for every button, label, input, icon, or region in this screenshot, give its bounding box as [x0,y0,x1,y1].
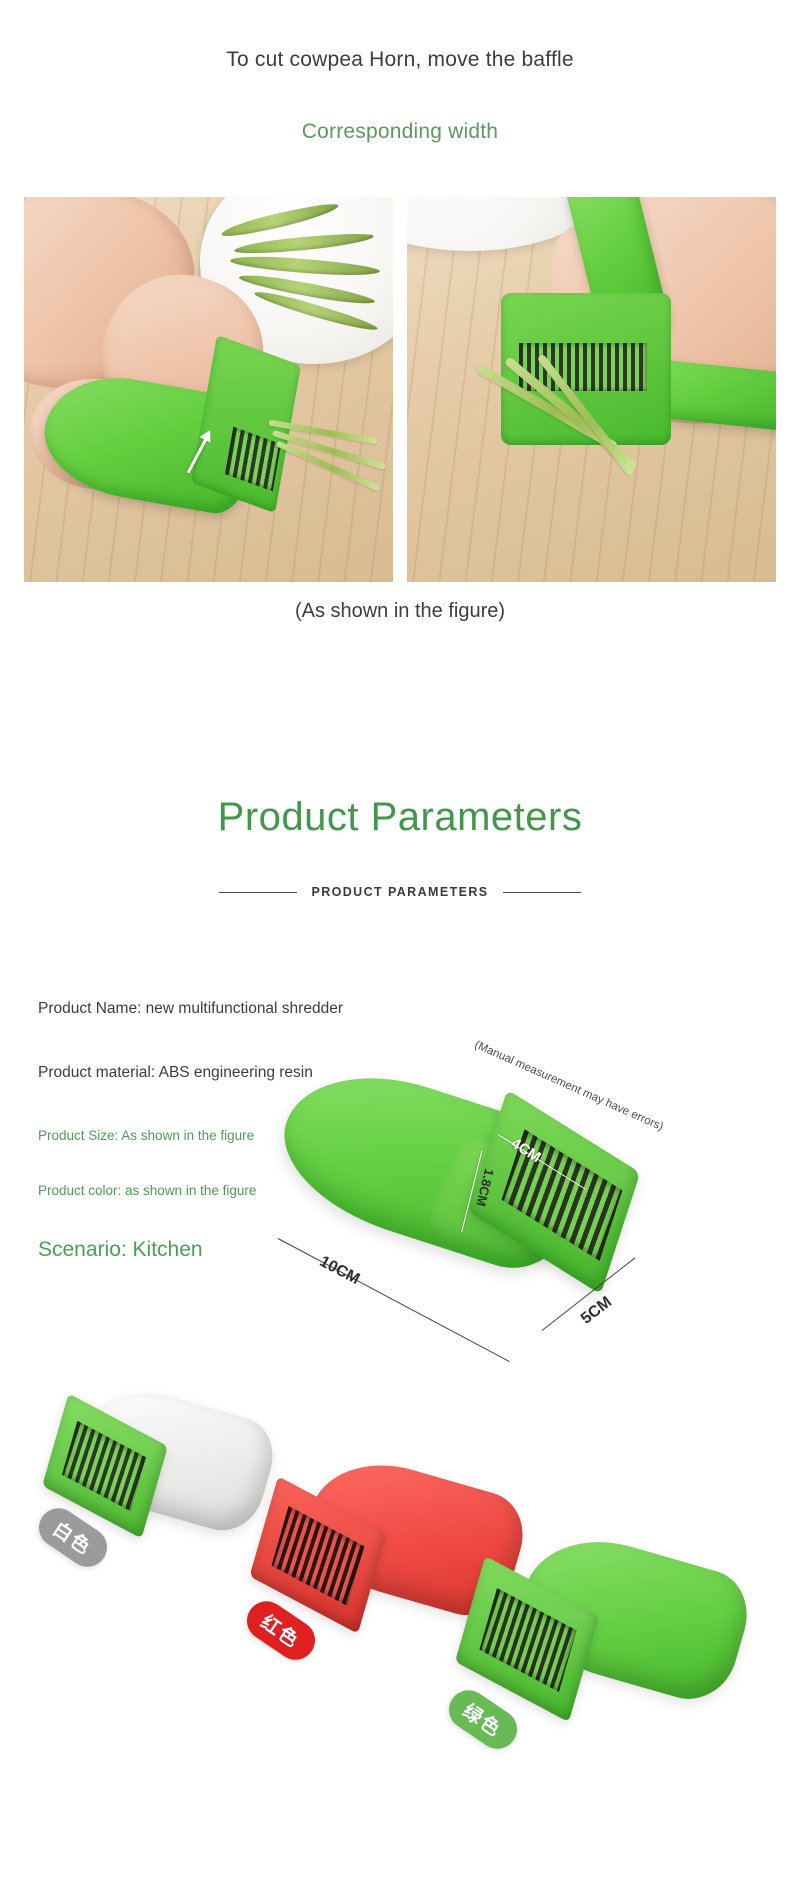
figure-caption: (As shown in the figure) [0,600,800,623]
variant-green[interactable]: 绿色 [430,1540,780,1810]
rule-left [219,892,297,893]
section-title: Product Parameters [0,795,800,840]
hero-product-diagram: (Manual measurement may have errors) 10C… [270,1030,800,1450]
spec-product-name: Product Name: new multifunctional shredd… [38,1000,468,1018]
dimension-label-length: 10CM [316,1253,362,1289]
photo-shredding-closeup [407,197,776,582]
page-subheadline: Corresponding width [0,120,800,144]
dimension-label-depth: 5CM [578,1294,616,1329]
instruction-photo-row [24,197,776,582]
photo-hands-moving-baffle [24,197,393,582]
color-variant-group: 白色 红色 绿色 [0,1390,800,1900]
section-subtitle: PRODUCT PARAMETERS [0,885,800,899]
section-subtitle-text: PRODUCT PARAMETERS [311,885,488,899]
page-headline: To cut cowpea Horn, move the baffle [0,48,800,72]
rule-right [503,892,581,893]
variant-badge-green: 绿色 [441,1683,524,1757]
